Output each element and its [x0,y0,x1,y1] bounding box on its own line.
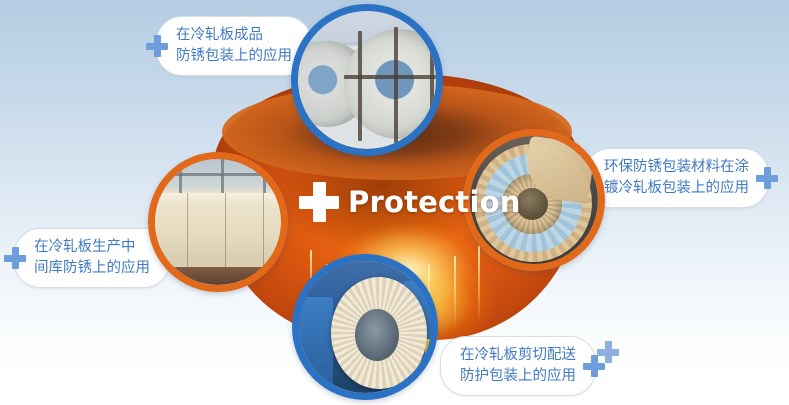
plus-icon [756,167,778,189]
callout-top-line-2: 防锈包装上的应用 [176,46,292,67]
strap [358,31,362,141]
tarp-seam [263,193,264,267]
callout-left-pill[interactable]: 在冷轧板生产中 间库防锈上的应用 [14,228,170,288]
shed-beam [179,159,182,193]
callout-top-pill[interactable]: 在冷轧板成品 防锈包装上的应用 [156,16,312,76]
plus-icon [299,182,339,222]
strap [394,27,398,143]
callout-top-line-1: 在冷轧板成品 [176,25,292,46]
spark [454,256,456,328]
spark [478,246,480,324]
tarp-seam [225,193,226,267]
photo-warehouse-cover [155,159,281,285]
protective-tarp [155,193,281,267]
callout-left[interactable]: 在冷轧板生产中 间库防锈上的应用 [4,228,170,288]
plus-icon [4,247,26,269]
tarp-seam [187,193,188,267]
callout-bottom[interactable]: 在冷轧板剪切配送 防护包装上的应用 [440,336,605,396]
strap [430,31,434,141]
machine-frame [299,297,333,393]
plus-icon [146,35,168,57]
callout-right-pill[interactable]: 环保防锈包装材料在涂 镀冷轧板包装上的应用 [584,148,769,208]
shed-beam [221,159,224,193]
shed-beam [263,159,266,193]
photo-shearing-line [299,261,431,393]
photo-bubble-bottom[interactable] [292,254,438,400]
plus-icon [583,355,605,377]
photo-bubble-left[interactable] [148,152,288,292]
coil-eye [355,309,399,361]
callout-bottom-line-2: 防护包装上的应用 [460,366,576,387]
strap [344,75,436,79]
center-protection-badge: Protection [299,182,521,222]
photo-steel-coils [298,11,436,149]
callout-left-line-2: 间库防锈上的应用 [34,258,150,279]
callout-right-line-1: 环保防锈包装材料在涂 [604,157,749,178]
infographic-stage: Protection [0,0,789,405]
center-label: Protection [348,185,521,219]
callout-bottom-line-1: 在冷轧板剪切配送 [460,345,576,366]
photo-bubble-top[interactable] [291,4,443,156]
callout-left-line-1: 在冷轧板生产中 [34,237,150,258]
callout-right-line-2: 镀冷轧板包装上的应用 [604,178,749,199]
callout-right[interactable]: 环保防锈包装材料在涂 镀冷轧板包装上的应用 [584,148,778,208]
callout-top[interactable]: 在冷轧板成品 防锈包装上的应用 [146,16,312,76]
callout-bottom-pill[interactable]: 在冷轧板剪切配送 防护包装上的应用 [440,336,596,396]
